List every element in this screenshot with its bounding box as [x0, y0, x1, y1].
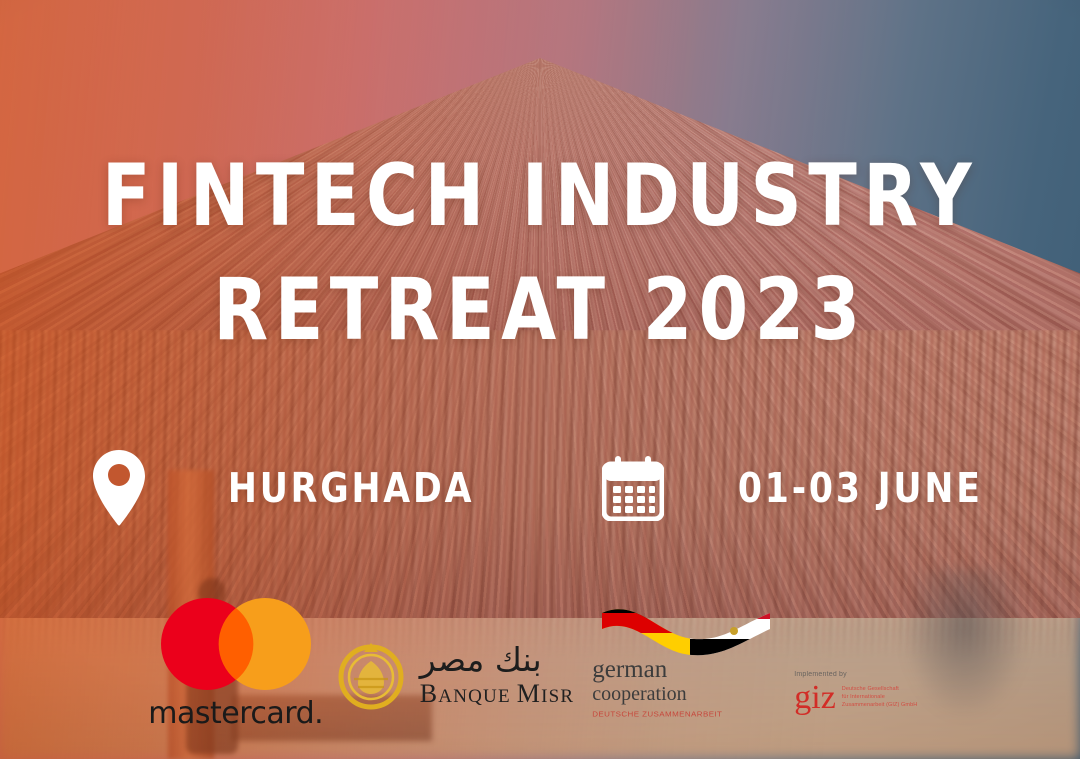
giz-wordmark: giz: [794, 684, 836, 711]
giz-logo: giz Deutsche Gesellschaft für Internatio…: [794, 684, 917, 711]
sponsor-banque-misr: بنك مصر BANQUE MISR: [334, 639, 575, 733]
bm-anque: ANQUE: [438, 686, 516, 707]
bm-isr: ISR: [541, 686, 574, 707]
banque-misr-emblem-icon: [334, 639, 408, 713]
sponsor-giz: Implemented by giz Deutsche Gesellschaft…: [794, 671, 928, 733]
date-detail: 01-03 JUNE: [602, 455, 991, 521]
banque-misr-text: بنك مصر BANQUE MISR: [420, 643, 575, 710]
giz-implemented-by: Implemented by: [794, 671, 847, 678]
location-pin-icon: [90, 448, 148, 528]
location-label: HURGHADA: [228, 464, 474, 512]
poster-title: FINTECH INDUSTRY RETREAT 2023: [0, 140, 1080, 367]
title-line-1: FINTECH INDUSTRY: [43, 140, 1037, 254]
giz-line-1: Deutsche Gesellschaft: [842, 686, 918, 692]
sponsor-german-cooperation: german cooperation DEUTSCHE ZUSAMMENARBE…: [592, 599, 768, 733]
poster-content: FINTECH INDUSTRY RETREAT 2023 HURGHADA: [0, 0, 1080, 759]
german-cooperation-subtitle: DEUTSCHE ZUSAMMENARBEIT: [592, 710, 722, 718]
giz-fullname: Deutsche Gesellschaft für Internationale…: [842, 686, 918, 708]
event-details: HURGHADA: [0, 448, 1080, 528]
bm-m: M: [517, 679, 541, 708]
banque-misr-arabic: بنك مصر: [420, 643, 542, 678]
mastercard-circles: [161, 598, 311, 690]
sponsor-logos: mastercard. بنك مصر BANQUE MISR: [0, 603, 1080, 733]
banque-misr-latin: BANQUE MISR: [420, 679, 575, 709]
giz-line-3: Zusammenarbeit (GIZ) GmbH: [842, 702, 918, 708]
german-egyptian-flag-ribbon-icon: [598, 599, 774, 661]
location-detail: HURGHADA: [90, 448, 482, 528]
mastercard-wordmark: mastercard.: [148, 696, 323, 731]
date-label: 01-03 JUNE: [738, 464, 983, 512]
mastercard-icon: [161, 598, 311, 690]
german-cooperation-line1: german: [592, 657, 667, 682]
bm-b: B: [420, 679, 439, 708]
title-line-2: RETREAT 2023: [43, 254, 1037, 368]
calendar-icon: [602, 455, 664, 521]
event-poster: FINTECH INDUSTRY RETREAT 2023 HURGHADA: [0, 0, 1080, 759]
german-cooperation-line2: cooperation: [592, 682, 686, 707]
sponsor-mastercard: mastercard.: [152, 598, 320, 733]
giz-line-2: für Internationale: [842, 694, 918, 700]
